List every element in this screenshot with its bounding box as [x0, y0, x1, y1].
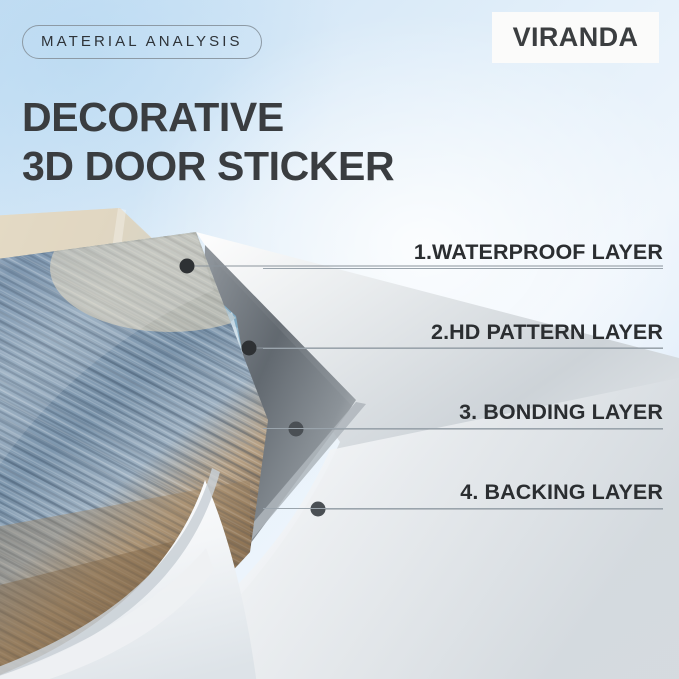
callout-3-underline: [263, 428, 663, 429]
material-analysis-badge: MATERIAL ANALYSIS: [22, 25, 262, 59]
poster-canvas: MATERIAL ANALYSIS DECORATIVE 3D DOOR STI…: [0, 0, 679, 679]
brand-logo: VIRANDA: [492, 12, 659, 63]
title-line-2: 3D DOOR STICKER: [22, 142, 394, 190]
callout-label-3: 3. BONDING LAYER: [263, 400, 663, 429]
title-line-1: DECORATIVE: [22, 94, 284, 140]
callout-1-text: 1.WATERPROOF LAYER: [263, 240, 663, 268]
callout-label-2: 2.HD PATTERN LAYER: [263, 320, 663, 349]
callout-4-underline: [263, 508, 663, 509]
callout-label-4: 4. BACKING LAYER: [263, 480, 663, 509]
callout-3-text: 3. BONDING LAYER: [263, 400, 663, 428]
callout-4-text: 4. BACKING LAYER: [263, 480, 663, 508]
callout-1-underline: [263, 268, 663, 269]
page-title: DECORATIVE 3D DOOR STICKER: [22, 93, 394, 190]
callout-2-text: 2.HD PATTERN LAYER: [263, 320, 663, 348]
brand-logo-text: VIRANDA: [513, 22, 639, 53]
callout-label-1: 1.WATERPROOF LAYER: [263, 240, 663, 269]
badge-label: MATERIAL ANALYSIS: [41, 33, 243, 50]
callout-2-underline: [263, 348, 663, 349]
